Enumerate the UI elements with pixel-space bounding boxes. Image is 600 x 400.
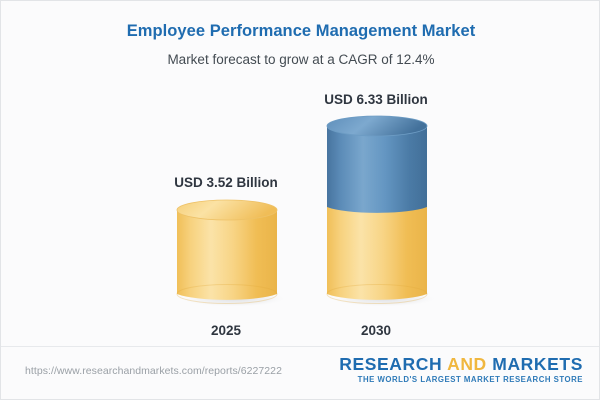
logo-tagline: THE WORLD'S LARGEST MARKET RESEARCH STOR… [339,375,583,384]
logo-word-and: AND [447,354,487,374]
chart-subtitle: Market forecast to grow at a CAGR of 12.… [1,52,600,67]
bar-category-label-2025: 2025 [211,323,241,338]
logo-word-markets: MARKETS [492,354,583,374]
footer: https://www.researchandmarkets.com/repor… [1,346,600,399]
report-url[interactable]: https://www.researchandmarkets.com/repor… [25,365,282,377]
research-and-markets-logo[interactable]: RESEARCH AND MARKETS THE WORLD'S LARGEST… [339,355,583,384]
logo-wordmark: RESEARCH AND MARKETS [339,355,583,373]
bar-group-2025: USD 3.52 Billion [176,205,276,308]
chart-title: Employee Performance Management Market [1,22,600,41]
logo-word-research: RESEARCH [339,354,442,374]
bar-cylinder-2030[interactable] [326,112,438,308]
bar-category-label-2030: 2030 [361,323,391,338]
chart-card: Employee Performance Management Market M… [0,0,600,400]
bar-top-cap-2025 [177,200,277,220]
bar-group-2030: USD 6.33 Billion [326,123,426,308]
bar-value-label-2030: USD 6.33 Billion [324,92,428,107]
bar-cylinder-2025[interactable] [176,196,288,308]
bar-top-cap-2030 [327,116,427,136]
bar-value-label-2025: USD 3.52 Billion [174,175,278,190]
bar-segment-base-2030 [327,207,427,300]
bar-body-2025 [177,210,277,300]
bar-segment-growth-2030 [327,126,427,213]
plot-area: USD 3.52 Billion [1,81,600,346]
